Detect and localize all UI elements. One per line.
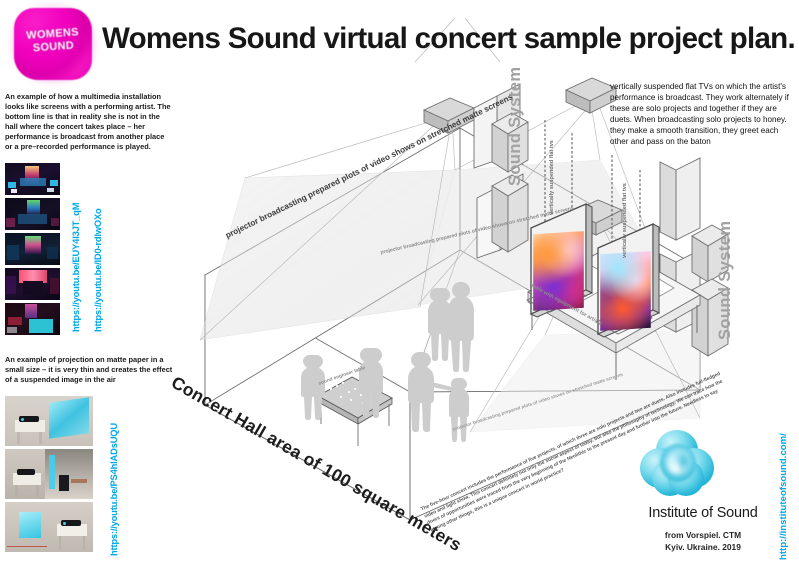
institute-website-link[interactable]: http://instituteofsound.com/ bbox=[778, 433, 789, 560]
institute-credits: from Vorspiel. CTM Kyiv. Ukraine. 2019 bbox=[628, 530, 778, 553]
institute-name: Institute of Sound bbox=[628, 505, 778, 521]
projector-ceiling-right bbox=[566, 78, 616, 113]
credit-line-2: Kyiv. Ukraine. 2019 bbox=[665, 542, 741, 552]
tv-screen-image-right bbox=[600, 251, 651, 331]
label-suspended-tv-left: vertically suspended flat tvs bbox=[549, 140, 555, 215]
institute-of-sound-logo bbox=[640, 430, 714, 496]
page-title: Womens Sound virtual concert sample proj… bbox=[102, 22, 795, 56]
projection-photo-2 bbox=[5, 449, 93, 499]
youtube-link-3[interactable]: https://youtu.be/PS4hIADsUQU bbox=[108, 423, 119, 556]
womens-sound-logo: WOMENS SOUND bbox=[14, 8, 92, 80]
credit-line-1: from Vorspiel. CTM bbox=[665, 530, 741, 540]
concert-photo-4 bbox=[5, 268, 60, 300]
concert-photo-2 bbox=[5, 198, 60, 230]
label-suspended-tv-right: vertically suspended flat tvs bbox=[622, 183, 628, 258]
concert-photo-5 bbox=[5, 303, 60, 335]
projection-photo-3 bbox=[5, 502, 93, 552]
youtube-link-1[interactable]: https://youtu.be/EUY4I3JT_qM bbox=[70, 203, 81, 332]
suspended-tv-description: vertically suspended flat TVs on which t… bbox=[610, 82, 794, 147]
matte-screen-right-upper bbox=[660, 158, 700, 240]
logo-line-2: SOUND bbox=[32, 39, 74, 54]
projection-photo-1 bbox=[5, 396, 93, 446]
label-sound-system-right: Sound System bbox=[716, 221, 735, 340]
concert-photo-3 bbox=[5, 233, 60, 265]
concert-photo-1 bbox=[5, 163, 60, 195]
youtube-link-2[interactable]: https://youtu.be/ID0-rdlwOXo bbox=[92, 208, 103, 332]
matte-paper-projection-note: An example of projection on matte paper … bbox=[5, 355, 173, 385]
label-sound-system-left: Sound System bbox=[506, 67, 525, 186]
womens-sound-logo-text: WOMENS SOUND bbox=[13, 25, 93, 55]
project-plan-poster: Concert Hall area of 100 square meters p… bbox=[0, 0, 799, 565]
multimedia-installation-note: An example of how a multimedia installat… bbox=[5, 92, 173, 153]
